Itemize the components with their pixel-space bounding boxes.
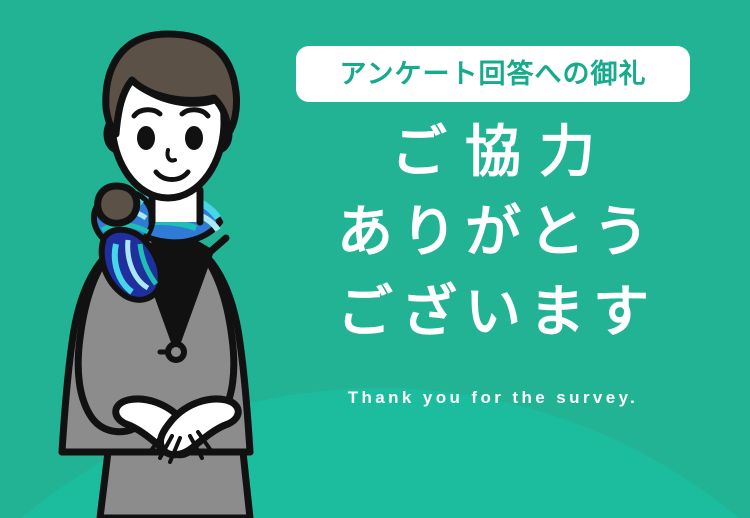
header-badge: アンケート回答への御礼 (296, 46, 690, 102)
headline-line-1: ご協力 (296, 112, 690, 192)
poster-canvas: アンケート回答への御礼 ご協力 ありがとう ございます Thank you fo… (0, 0, 750, 518)
subtitle-text: Thank you for the survey. (296, 388, 690, 408)
badge-label: アンケート回答への御礼 (340, 61, 647, 88)
headline-block: ご協力 ありがとう ございます (296, 112, 690, 352)
headline-line-2: ありがとう (296, 192, 690, 272)
woman-in-suit-illustration (0, 0, 340, 518)
headline-line-3: ございます (296, 272, 690, 352)
